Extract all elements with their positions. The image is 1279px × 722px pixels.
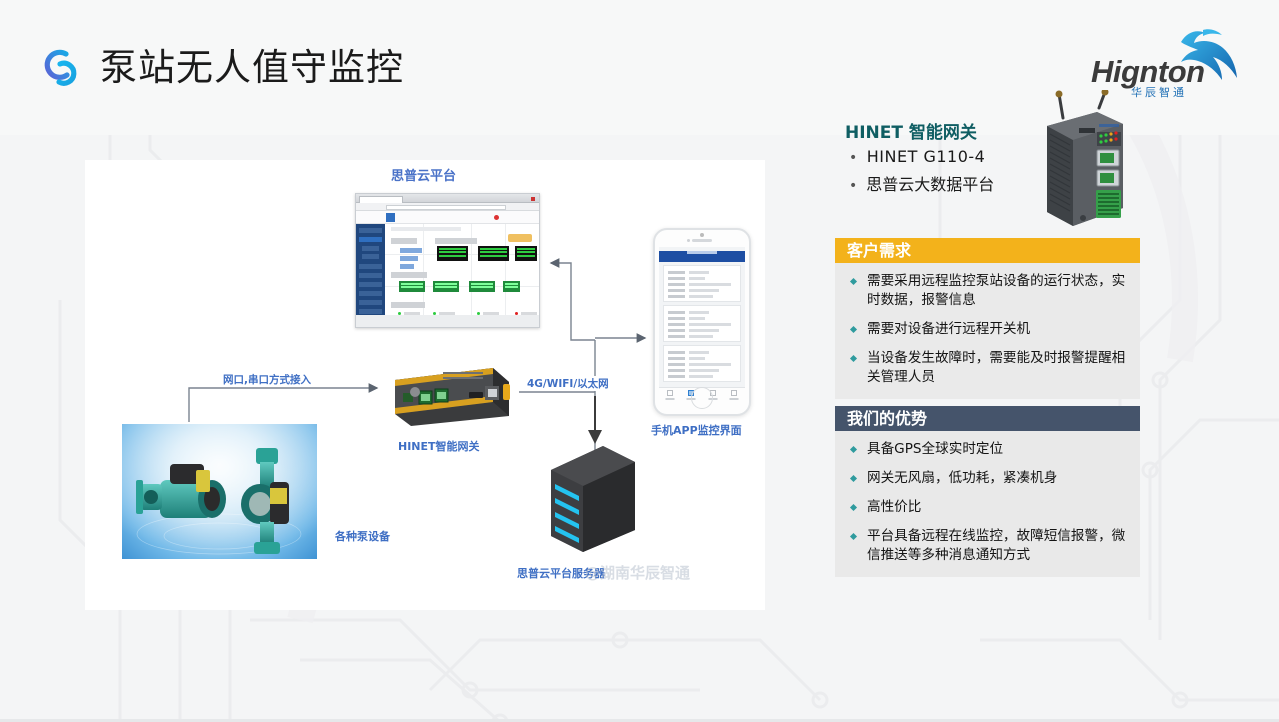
cloud-server-icon bbox=[545, 440, 640, 555]
app-list-item bbox=[663, 305, 741, 342]
right-info-column: HINET 智能网关 HINET G110-4 思普云大数据平台 bbox=[835, 95, 1145, 240]
gateway-bullet: 思普云大数据平台 bbox=[849, 171, 994, 195]
cloud-platform-dashboard-mock bbox=[355, 193, 540, 328]
gateway-info-block: HINET 智能网关 HINET G110-4 思普云大数据平台 bbox=[835, 95, 1145, 240]
bullet-item: 具备GPS全球实时定位 bbox=[845, 440, 1130, 459]
gateway-label: HINET智能网关 bbox=[398, 438, 480, 454]
panel-customer-needs-title: 客户需求 bbox=[835, 238, 1140, 263]
architecture-diagram-card: 思普云平台 bbox=[85, 160, 765, 610]
app-list-item bbox=[663, 345, 741, 382]
bullet-item: 当设备发生故障时，需要能及时报警提醒相关管理人员 bbox=[845, 349, 1130, 387]
app-tab bbox=[724, 388, 746, 401]
page-title: 泵站无人值守监控 bbox=[100, 42, 404, 94]
mobile-app-mock bbox=[653, 228, 751, 416]
link-access-label: 网口,串口方式接入 bbox=[221, 372, 313, 387]
pumps-label: 各种泵设备 bbox=[335, 528, 390, 544]
interlocking-circles-logo-icon bbox=[36, 42, 88, 94]
app-tab bbox=[659, 388, 681, 401]
bullet-item: 需要采用远程监控泵站设备的运行状态，实时数据，报警信息 bbox=[845, 272, 1130, 310]
cloud-platform-label: 思普云平台 bbox=[391, 165, 456, 184]
bullet-item: 平台具备远程在线监控，故障短信报警，微信推送等多种消息通知方式 bbox=[845, 527, 1130, 565]
panel-customer-needs-body: 需要采用远程监控泵站设备的运行状态，实时数据，报警信息 需要对设备进行远程开关机… bbox=[835, 263, 1140, 399]
industrial-gateway-device-icon bbox=[1039, 90, 1131, 230]
panel-customer-needs: 客户需求 需要采用远程监控泵站设备的运行状态，实时数据，报警信息 需要对设备进行… bbox=[835, 238, 1140, 399]
hinet-gateway-device-icon bbox=[385, 358, 515, 430]
gateway-bullet: HINET G110-4 bbox=[849, 147, 985, 166]
home-button-icon bbox=[691, 387, 713, 409]
panel-our-advantages: 我们的优势 具备GPS全球实时定位 网关无风扇，低功耗，紧凑机身 高性价比 平台… bbox=[835, 406, 1140, 577]
bullet-item: 高性价比 bbox=[845, 498, 1130, 517]
app-list-item bbox=[663, 265, 741, 302]
gateway-heading: HINET 智能网关 bbox=[845, 118, 977, 143]
link-network-label: 4G/WIFI/以太网 bbox=[525, 376, 611, 391]
pump-equipment-photo bbox=[122, 424, 317, 559]
bullet-item: 需要对设备进行远程开关机 bbox=[845, 320, 1130, 339]
mobile-app-label: 手机APP监控界面 bbox=[651, 422, 742, 438]
app-navbar bbox=[659, 251, 745, 262]
watermark: @湖南华辰智通 bbox=[585, 562, 690, 583]
bullet-item: 网关无风扇，低功耗，紧凑机身 bbox=[845, 469, 1130, 488]
panel-our-advantages-title: 我们的优势 bbox=[835, 406, 1140, 431]
panel-our-advantages-body: 具备GPS全球实时定位 网关无风扇，低功耗，紧凑机身 高性价比 平台具备远程在线… bbox=[835, 431, 1140, 577]
